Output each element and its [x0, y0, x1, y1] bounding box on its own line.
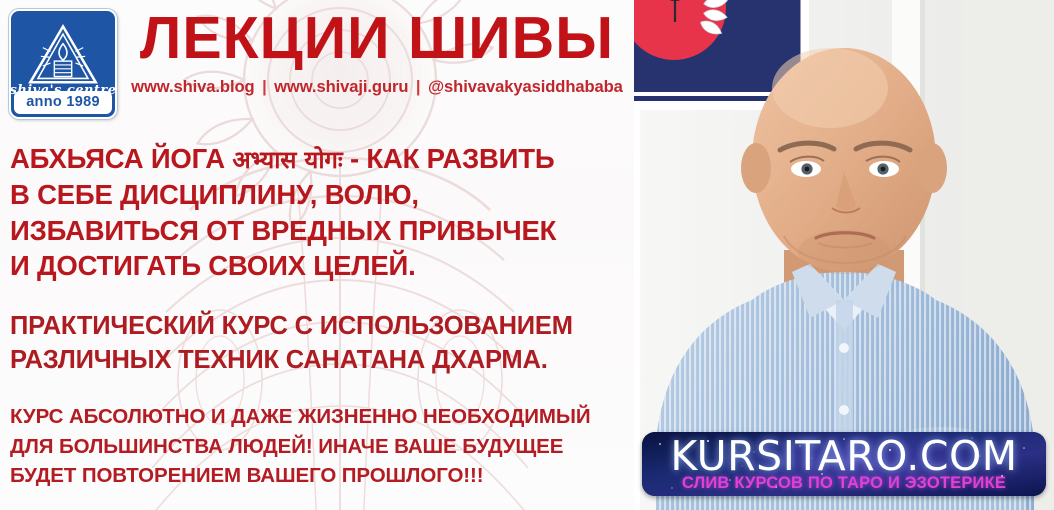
logo-anno-label: anno 1989	[14, 91, 112, 114]
headline-post: - КАК РАЗВИТЬ	[343, 143, 555, 174]
shivas-centre-logo: shiva's centre anno 1989	[9, 9, 117, 119]
page-title: ЛЕКЦИИ ШИВЫ	[120, 8, 634, 68]
headline-pre: АБХЬЯСА ЙОГА	[10, 143, 232, 174]
social-handle[interactable]: @shivavakyasiddhababa	[428, 77, 623, 96]
course-line-2: РАЗЛИЧНЫХ ТЕХНИК САНАТАНА ДХАРМА.	[10, 344, 634, 378]
site-links-line: www.shiva.blog | www.shivaji.guru | @shi…	[120, 77, 634, 97]
urgency-line-2: ДЛЯ БОЛЬШИНСТВА ЛЮДЕЙ! ИНАЧЕ ВАШЕ БУДУЩЕ…	[10, 432, 634, 462]
headline-paragraph: АБХЬЯСА ЙОГА अभ्यास योगः - КАК РАЗВИТЬ В…	[0, 141, 634, 284]
headline-line-4: И ДОСТИГАТЬ СВОИХ ЦЕЛЕЙ.	[10, 248, 634, 284]
urgency-line-1: КУРС АБСОЛЮТНО И ДАЖЕ ЖИЗНЕННО НЕОБХОДИМ…	[10, 402, 634, 432]
headline-line-1: АБХЬЯСА ЙОГА अभ्यास योगः - КАК РАЗВИТЬ	[10, 141, 634, 177]
copy-area: АБХЬЯСА ЙОГА अभ्यास योगः - КАК РАЗВИТЬ В…	[0, 128, 634, 491]
link-shiva-blog[interactable]: www.shiva.blog	[131, 77, 254, 96]
content-panel: shiva's centre anno 1989 ЛЕКЦИИ ШИВЫ www…	[0, 0, 634, 510]
banner-subtitle: СЛИВ КУРСОВ ПО ТАРО И ЭЗОТЕРИКЕ	[642, 475, 1046, 492]
link-separator-1: |	[259, 77, 270, 96]
promo-poster: shiva's centre anno 1989 ЛЕКЦИИ ШИВЫ www…	[0, 0, 1054, 510]
course-line-1: ПРАКТИЧЕСКИЙ КУРС С ИСПОЛЬЗОВАНИЕМ	[10, 310, 634, 344]
urgency-line-3: БУДЕТ ПОВТОРЕНИЕМ ВАШЕГО ПРОШЛОГО!!!	[10, 461, 634, 491]
headline-line-3: ИЗБАВИТЬСЯ ОТ ВРЕДНЫХ ПРИВЫЧЕК	[10, 213, 634, 249]
title-block: ЛЕКЦИИ ШИВЫ www.shiva.blog | www.shivaji…	[120, 8, 634, 97]
urgency-paragraph: КУРС АБСОЛЮТНО И ДАЖЕ ЖИЗНЕННО НЕОБХОДИМ…	[0, 402, 634, 491]
link-shivaji-guru[interactable]: www.shivaji.guru	[274, 77, 408, 96]
kursitaro-banner[interactable]: KURSITARO.COM СЛИВ КУРСОВ ПО ТАРО И ЭЗОТ…	[642, 432, 1046, 496]
link-separator-2: |	[413, 77, 424, 96]
devanagari-abhyasa-yoga: अभ्यास योगः	[232, 146, 342, 174]
banner-title: KURSITARO.COM	[642, 433, 1046, 479]
course-description-paragraph: ПРАКТИЧЕСКИЙ КУРС С ИСПОЛЬЗОВАНИЕМ РАЗЛИ…	[0, 310, 634, 378]
headline-line-2: В СЕБЕ ДИСЦИПЛИНУ, ВОЛЮ,	[10, 177, 634, 213]
poster-header: shiva's centre anno 1989 ЛЕКЦИИ ШИВЫ www…	[0, 0, 634, 128]
